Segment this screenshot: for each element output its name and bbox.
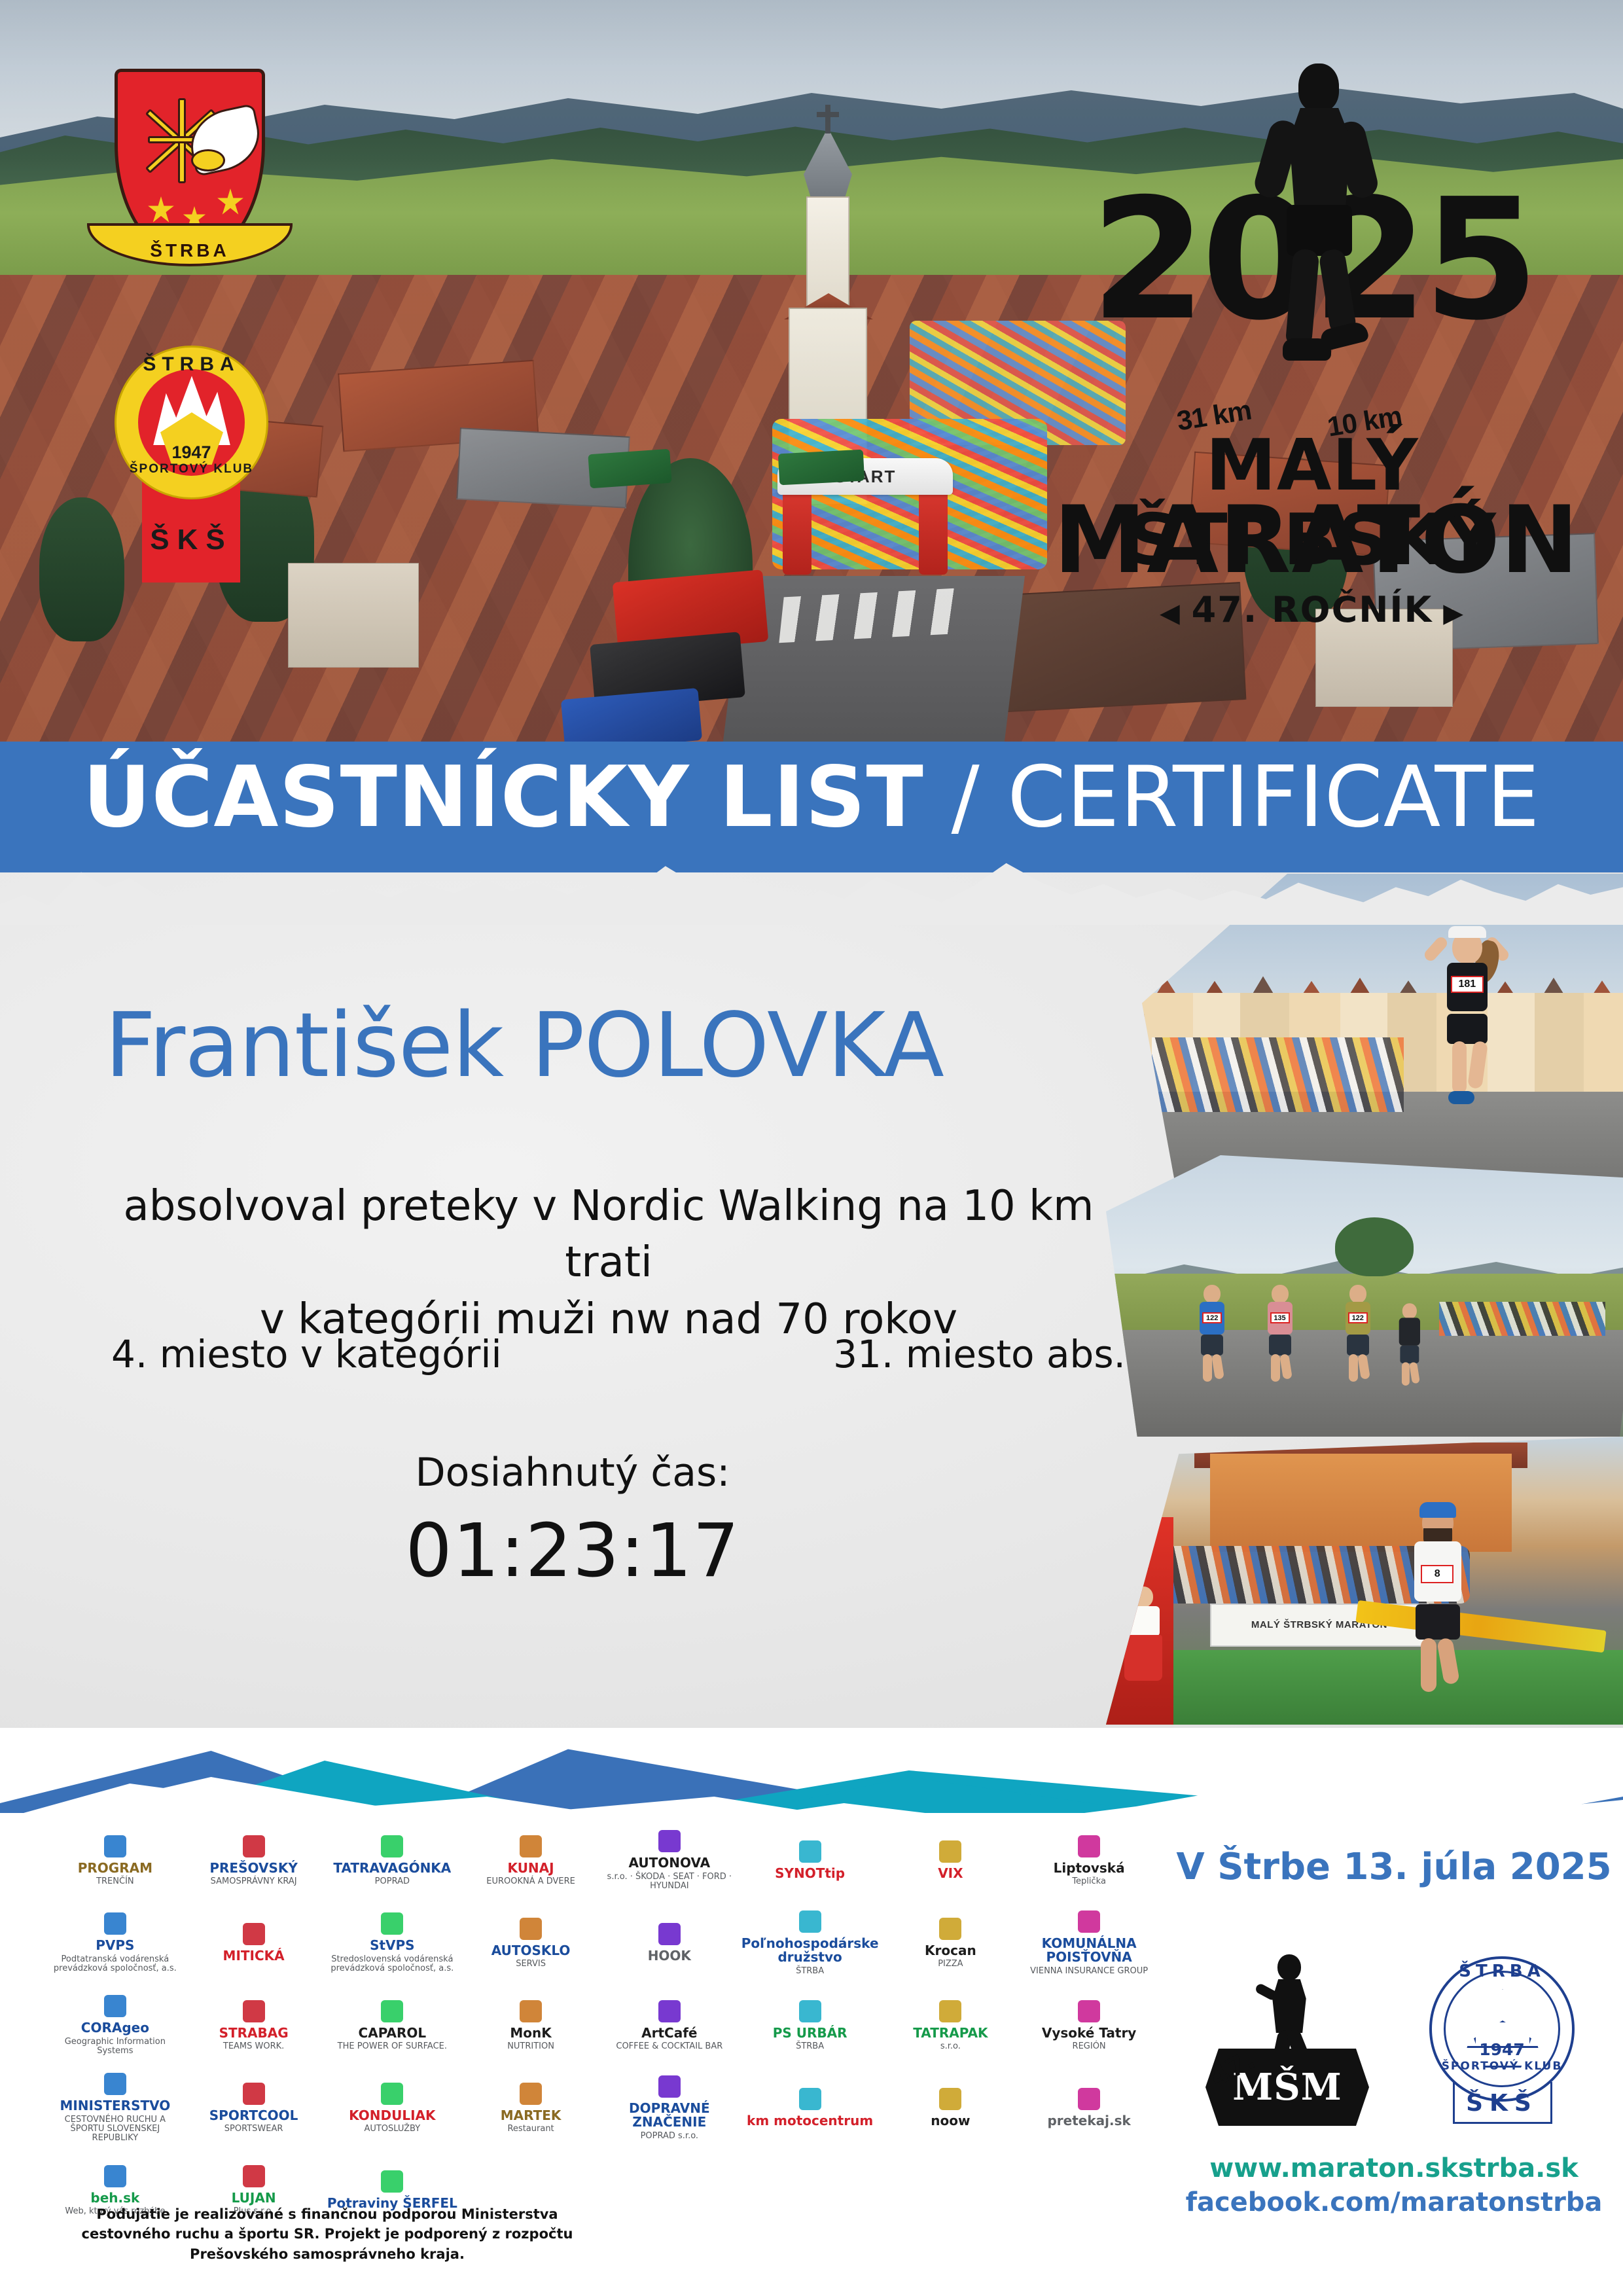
sponsor-logo: SPORTCOOLSPORTSWEAR	[185, 2067, 323, 2149]
club-stamp: ŠTRBA 1947 ŠPORTOVÝ KLUB ŠKŠ	[1414, 1947, 1590, 2130]
club-founding-year: 1947	[108, 442, 275, 463]
sponsor-logo: CAPAROLTHE POWER OF SURFACE.	[323, 1984, 461, 2067]
sponsor-mark-icon	[381, 2083, 403, 2105]
sponsor-subtitle: Stredoslovenská vodárenská prevádzková s…	[327, 1955, 458, 1974]
sponsor-name: noow	[931, 2114, 970, 2128]
sponsor-name: pretekaj.sk	[1047, 2114, 1130, 2128]
certificate-title-band: ÚČASTNÍCKY LIST / CERTIFICATE	[0, 742, 1623, 872]
sponsor-mark-icon	[1078, 2088, 1100, 2110]
sponsor-mark-icon	[104, 1912, 126, 1935]
sponsor-name: TATRAVAGÓNKA	[333, 1861, 451, 1876]
sponsor-mark-icon	[243, 2000, 265, 2022]
runner-female: 181	[1418, 908, 1516, 1124]
certificate-description: absolvoval preteky v Nordic Walking na 1…	[79, 1178, 1139, 1348]
sponsor-name: CAPAROL	[359, 2026, 427, 2041]
bib-number: 122	[1202, 1312, 1222, 1323]
sponsor-logo: KUNAJEUROOKNÁ A DVERE	[461, 1820, 600, 1902]
gold-cuff-icon	[191, 149, 225, 171]
sponsor-mark-icon	[939, 2088, 961, 2110]
participant-name: František POLOVKA	[105, 1001, 1126, 1090]
footer-right-column: V Štrbe 13. júla 2025 MŠM 47. ŠTRBA 1947…	[1171, 1826, 1616, 2284]
sponsor-name: LUJAN	[232, 2191, 276, 2206]
sponsor-name: beh.sk	[90, 2191, 139, 2206]
runner: 122	[1194, 1285, 1228, 1383]
club-bottom-text: ŠPORTOVÝ KLUB	[115, 462, 268, 508]
sponsor-subtitle: Restaurant	[507, 2125, 554, 2134]
sponsor-name: km motocentrum	[747, 2114, 873, 2128]
sponsor-subtitle: REGIÓN	[1073, 2042, 1106, 2051]
sponsor-mark-icon	[658, 2000, 681, 2022]
sponsor-logo: ArtCaféCOFFEE & COCKTAIL BAR	[600, 1984, 739, 2067]
sponsor-logo: PVPSPodtatranská vodárenská prevádzková …	[46, 1902, 185, 1984]
runner-pack	[1439, 1302, 1605, 1336]
sponsor-logo: PROGRAMTRENČÍN	[46, 1820, 185, 1902]
sponsor-mark-icon	[243, 1835, 265, 1857]
stamp-abbrev: ŠKŠ	[1429, 2090, 1575, 2117]
sponsor-subtitle: Teplička	[1072, 1877, 1106, 1886]
sponsor-logo: VIX	[882, 1820, 1020, 1902]
stamp-top-text: ŠTRBA	[1429, 1962, 1575, 1981]
sponsor-name: Liptovská	[1054, 1861, 1125, 1876]
sponsor-mark-icon	[243, 1923, 265, 1945]
sponsor-logo: PREŠOVSKÝSAMOSPRÁVNY KRAJ	[185, 1820, 323, 1902]
sponsor-mark-icon	[243, 2165, 265, 2187]
sponsor-name: PROGRAM	[78, 1861, 152, 1876]
category-placement: 4. miesto v kategórii	[111, 1332, 502, 1376]
sponsor-name: KOMUNÁLNA POISŤOVŇA	[1024, 1937, 1154, 1965]
sponsor-subtitle: SPORTSWEAR	[224, 2125, 283, 2134]
title-slovak: ÚČASTNÍCKY LIST	[83, 749, 924, 846]
sponsor-mark-icon	[243, 2083, 265, 2105]
sponsor-subtitle: s.r.o.	[940, 2042, 961, 2051]
photo-runners-on-route: 122 135 122	[1106, 1155, 1623, 1437]
title-separator: /	[924, 749, 1008, 846]
sponsor-logo: KOMUNÁLNA POISŤOVŇAVIENNA INSURANCE GROU…	[1020, 1902, 1158, 1984]
sponsor-mark-icon	[104, 2165, 126, 2187]
runner: 135	[1262, 1285, 1296, 1383]
event-title-line2: MARATÓN	[1054, 494, 1571, 587]
sponsor-name: ArtCafé	[641, 2026, 697, 2041]
sponsor-name: AUTOSKLO	[491, 1944, 571, 1958]
sponsor-mark-icon	[381, 2170, 403, 2193]
funding-support-text: Podujatie je realizované s finančnou pod…	[52, 2204, 602, 2264]
sponsor-subtitle: AUTOSLUŽBY	[364, 2125, 420, 2134]
sponsor-mark-icon	[799, 2000, 821, 2022]
msm-logo: MŠM 47.	[1198, 1950, 1374, 2127]
sponsor-mark-icon	[520, 1835, 542, 1857]
sponsor-mark-icon	[381, 1912, 403, 1935]
sponsor-name: SPORTCOOL	[209, 2109, 298, 2123]
sponsor-subtitle: CESTOVNÉHO RUCHU A ŠPORTU SLOVENSKEJ REP…	[50, 2115, 181, 2144]
sponsor-mark-icon	[1078, 1910, 1100, 1933]
bib-number: 135	[1270, 1312, 1290, 1323]
finish-time: 01:23:17	[79, 1509, 1067, 1594]
sponsor-mark-icon	[1078, 1835, 1100, 1857]
sponsor-name: SYNOTtip	[775, 1867, 845, 1881]
sponsor-name: PREŠOVSKÝ	[209, 1861, 297, 1876]
event-edition: 47. ROČNÍK	[1054, 589, 1571, 630]
sponsor-logo: noow	[882, 2067, 1020, 2149]
sponsor-mark-icon	[939, 1918, 961, 1940]
sponsor-mark-icon	[658, 1923, 681, 1945]
sponsor-subtitle: ŠTRBA	[796, 2042, 824, 2051]
sports-club-emblem: ŠTRBA 1947 ŠPORTOVÝ KLUB ŠKŠ	[108, 327, 275, 589]
sponsor-logo: pretekaj.sk	[1020, 2067, 1158, 2149]
sponsor-subtitle: s.r.o. · ŠKODA · SEAT · FORD · HYUNDAI	[604, 1873, 735, 1892]
sponsor-subtitle: ŠTRBA	[796, 1967, 824, 1976]
sponsor-mark-icon	[104, 1995, 126, 2017]
sponsor-subtitle: POPRAD	[375, 1877, 410, 1886]
sponsor-name: MINISTERSTVO	[60, 2099, 170, 2113]
stamp-year: 1947	[1429, 2040, 1575, 2059]
sponsor-logo: AUTOSKLOSERVIS	[461, 1902, 600, 1984]
sponsor-mark-icon	[799, 1910, 821, 1933]
sponsor-logo: MINISTERSTVOCESTOVNÉHO RUCHU A ŠPORTU SL…	[46, 2067, 185, 2149]
sponsor-mark-icon	[104, 2073, 126, 2095]
club-top-text: ŠTRBA	[121, 340, 262, 389]
sponsor-logo: km motocentrum	[739, 2067, 882, 2149]
sponsor-subtitle: Geographic Information Systems	[50, 2037, 181, 2056]
sponsor-logo: DOPRAVNÉ ZNAČENIEPOPRAD s.r.o.	[600, 2067, 739, 2149]
sponsor-logo: Poľnohospodárske družstvoŠTRBA	[739, 1902, 882, 1984]
sponsor-mark-icon	[658, 2075, 681, 2098]
sponsor-logo: AUTONOVAs.r.o. · ŠKODA · SEAT · FORD · H…	[600, 1820, 739, 1902]
event-date: V Štrbe 13. júla 2025	[1171, 1846, 1616, 1888]
sponsor-logo: KrocanPIZZA	[882, 1902, 1020, 1984]
sponsor-logo: KONDULIAKAUTOSLUŽBY	[323, 2067, 461, 2149]
bib-number: 8	[1421, 1565, 1454, 1583]
sponsor-name: DOPRAVNÉ ZNAČENIE	[604, 2102, 735, 2130]
sponsor-logo-grid: PROGRAMTRENČÍNPREŠOVSKÝSAMOSPRÁVNY KRAJT…	[46, 1820, 1158, 2232]
sponsor-logo: Vysoké TatryREGIÓN	[1020, 1984, 1158, 2067]
bib-number: 181	[1451, 976, 1484, 993]
photo-collage: 181 122 135 122 MALÝ ŠTR	[1106, 874, 1623, 1725]
marathon-event-logo: 2025 31 km 10 km MALÝ ŠTRBSKÝ MARATÓN 47…	[1054, 36, 1623, 612]
sponsor-subtitle: POPRAD s.r.o.	[641, 2132, 699, 2141]
sponsor-name: MITICKÁ	[223, 1949, 285, 1964]
sponsor-mark-icon	[520, 2083, 542, 2105]
sponsor-mark-icon	[520, 2000, 542, 2022]
sponsor-mark-icon	[658, 1830, 681, 1852]
website-link[interactable]: www.maraton.skstrba.sk	[1171, 2153, 1616, 2183]
sponsor-name: Krocan	[925, 1944, 976, 1958]
sponsor-name: Poľnohospodárske družstvo	[741, 1937, 879, 1965]
sponsor-name: CORAgeo	[81, 2021, 149, 2036]
sponsor-name: AUTONOVA	[629, 1856, 711, 1871]
sponsor-subtitle: VIENNA INSURANCE GROUP	[1030, 1967, 1148, 1976]
bib-number: 122	[1348, 1312, 1368, 1323]
sponsor-name: PVPS	[96, 1939, 134, 1953]
sponsor-logo: HOOK	[600, 1902, 739, 1984]
sponsor-logo: MARTEKRestaurant	[461, 2067, 600, 2149]
sponsor-mark-icon	[939, 2000, 961, 2022]
sponsor-logo: TATRAVAGÓNKAPOPRAD	[323, 1820, 461, 1902]
sponsor-mark-icon	[381, 1835, 403, 1857]
sponsor-subtitle: TRENČÍN	[96, 1877, 134, 1886]
stamp-bottom-text: ŠPORTOVÝ KLUB	[1429, 2060, 1575, 2073]
sponsor-subtitle: COFFEE & COCKTAIL BAR	[616, 2042, 722, 2051]
sponsor-name: MonK	[510, 2026, 551, 2041]
winning-runner: 8	[1397, 1506, 1482, 1702]
sponsor-mark-icon	[1078, 2000, 1100, 2022]
description-line-1: absolvoval preteky v Nordic Walking na 1…	[79, 1178, 1139, 1291]
sponsor-mark-icon	[104, 1835, 126, 1857]
sponsor-logo: PS URBÁRŠTRBA	[739, 1984, 882, 2067]
runner	[1395, 1303, 1423, 1387]
sponsor-mark-icon	[381, 2000, 403, 2022]
page-title: ÚČASTNÍCKY LIST / CERTIFICATE	[0, 749, 1623, 846]
sponsor-name: StVPS	[370, 1939, 415, 1953]
seven-pointed-star-icon	[216, 188, 245, 217]
sponsor-subtitle: Podtatranská vodárenská prevádzková spol…	[50, 1955, 181, 1974]
sponsor-subtitle: THE POWER OF SURFACE.	[338, 2042, 447, 2051]
sponsor-subtitle: SAMOSPRÁVNY KRAJ	[211, 1877, 297, 1886]
sponsor-logo: StVPSStredoslovenská vodárenská prevádzk…	[323, 1902, 461, 1984]
sponsor-name: Vysoké Tatry	[1042, 2026, 1136, 2041]
sponsor-name: STRABAG	[219, 2026, 289, 2041]
sponsor-mark-icon	[799, 1840, 821, 1863]
title-english: CERTIFICATE	[1007, 749, 1540, 846]
municipality-name: ŠTRBA	[150, 240, 229, 264]
sponsor-name: PS URBÁR	[773, 2026, 847, 2041]
seven-pointed-star-icon	[147, 196, 175, 225]
sponsor-mark-icon	[939, 1840, 961, 1863]
sponsor-mark-icon	[799, 2088, 821, 2110]
sponsor-logo: CORAgeoGeographic Information Systems	[46, 1984, 185, 2067]
sponsor-mark-icon	[520, 1918, 542, 1940]
facebook-link[interactable]: facebook.com/maratonstrba	[1171, 2187, 1616, 2217]
placement-row: 4. miesto v kategórii 31. miesto abs.	[79, 1332, 1152, 1378]
sponsor-name: VIX	[938, 1867, 963, 1881]
sponsor-subtitle: EUROOKNÁ A DVERE	[486, 1877, 575, 1886]
sponsor-logo: MonKNUTRITION	[461, 1984, 600, 2067]
sponsor-name: KONDULIAK	[349, 2109, 435, 2123]
runner: 122	[1340, 1285, 1374, 1383]
sponsor-subtitle: SERVIS	[516, 1960, 546, 1969]
time-label: Dosiahnutý čas:	[79, 1450, 1067, 1496]
sponsor-name: HOOK	[648, 1949, 691, 1964]
sponsor-name: MARTEK	[501, 2109, 562, 2123]
sponsor-subtitle: TEAMS WORK.	[223, 2042, 284, 2051]
sponsor-subtitle: NUTRITION	[507, 2042, 554, 2051]
sponsor-name: TATRAPAK	[913, 2026, 988, 2041]
absolute-placement: 31. miesto abs.	[833, 1332, 1126, 1376]
runner-silhouette-icon	[1258, 56, 1382, 376]
sponsor-subtitle: PIZZA	[938, 1960, 963, 1969]
sponsor-logo: MITICKÁ	[185, 1902, 323, 1984]
sponsor-name: KUNAJ	[508, 1861, 554, 1876]
sponsor-logo: SYNOTtip	[739, 1820, 882, 1902]
folk-costume-girl	[1122, 1587, 1165, 1685]
sponsor-logo: TATRAPAKs.r.o.	[882, 1984, 1020, 2067]
strba-coat-of-arms: ŠTRBA	[115, 69, 265, 259]
sponsor-logo: STRABAGTEAMS WORK.	[185, 1984, 323, 2067]
club-abbreviation: ŠKŠ	[108, 524, 275, 556]
sponsor-logo: LiptovskáTeplička	[1020, 1820, 1158, 1902]
